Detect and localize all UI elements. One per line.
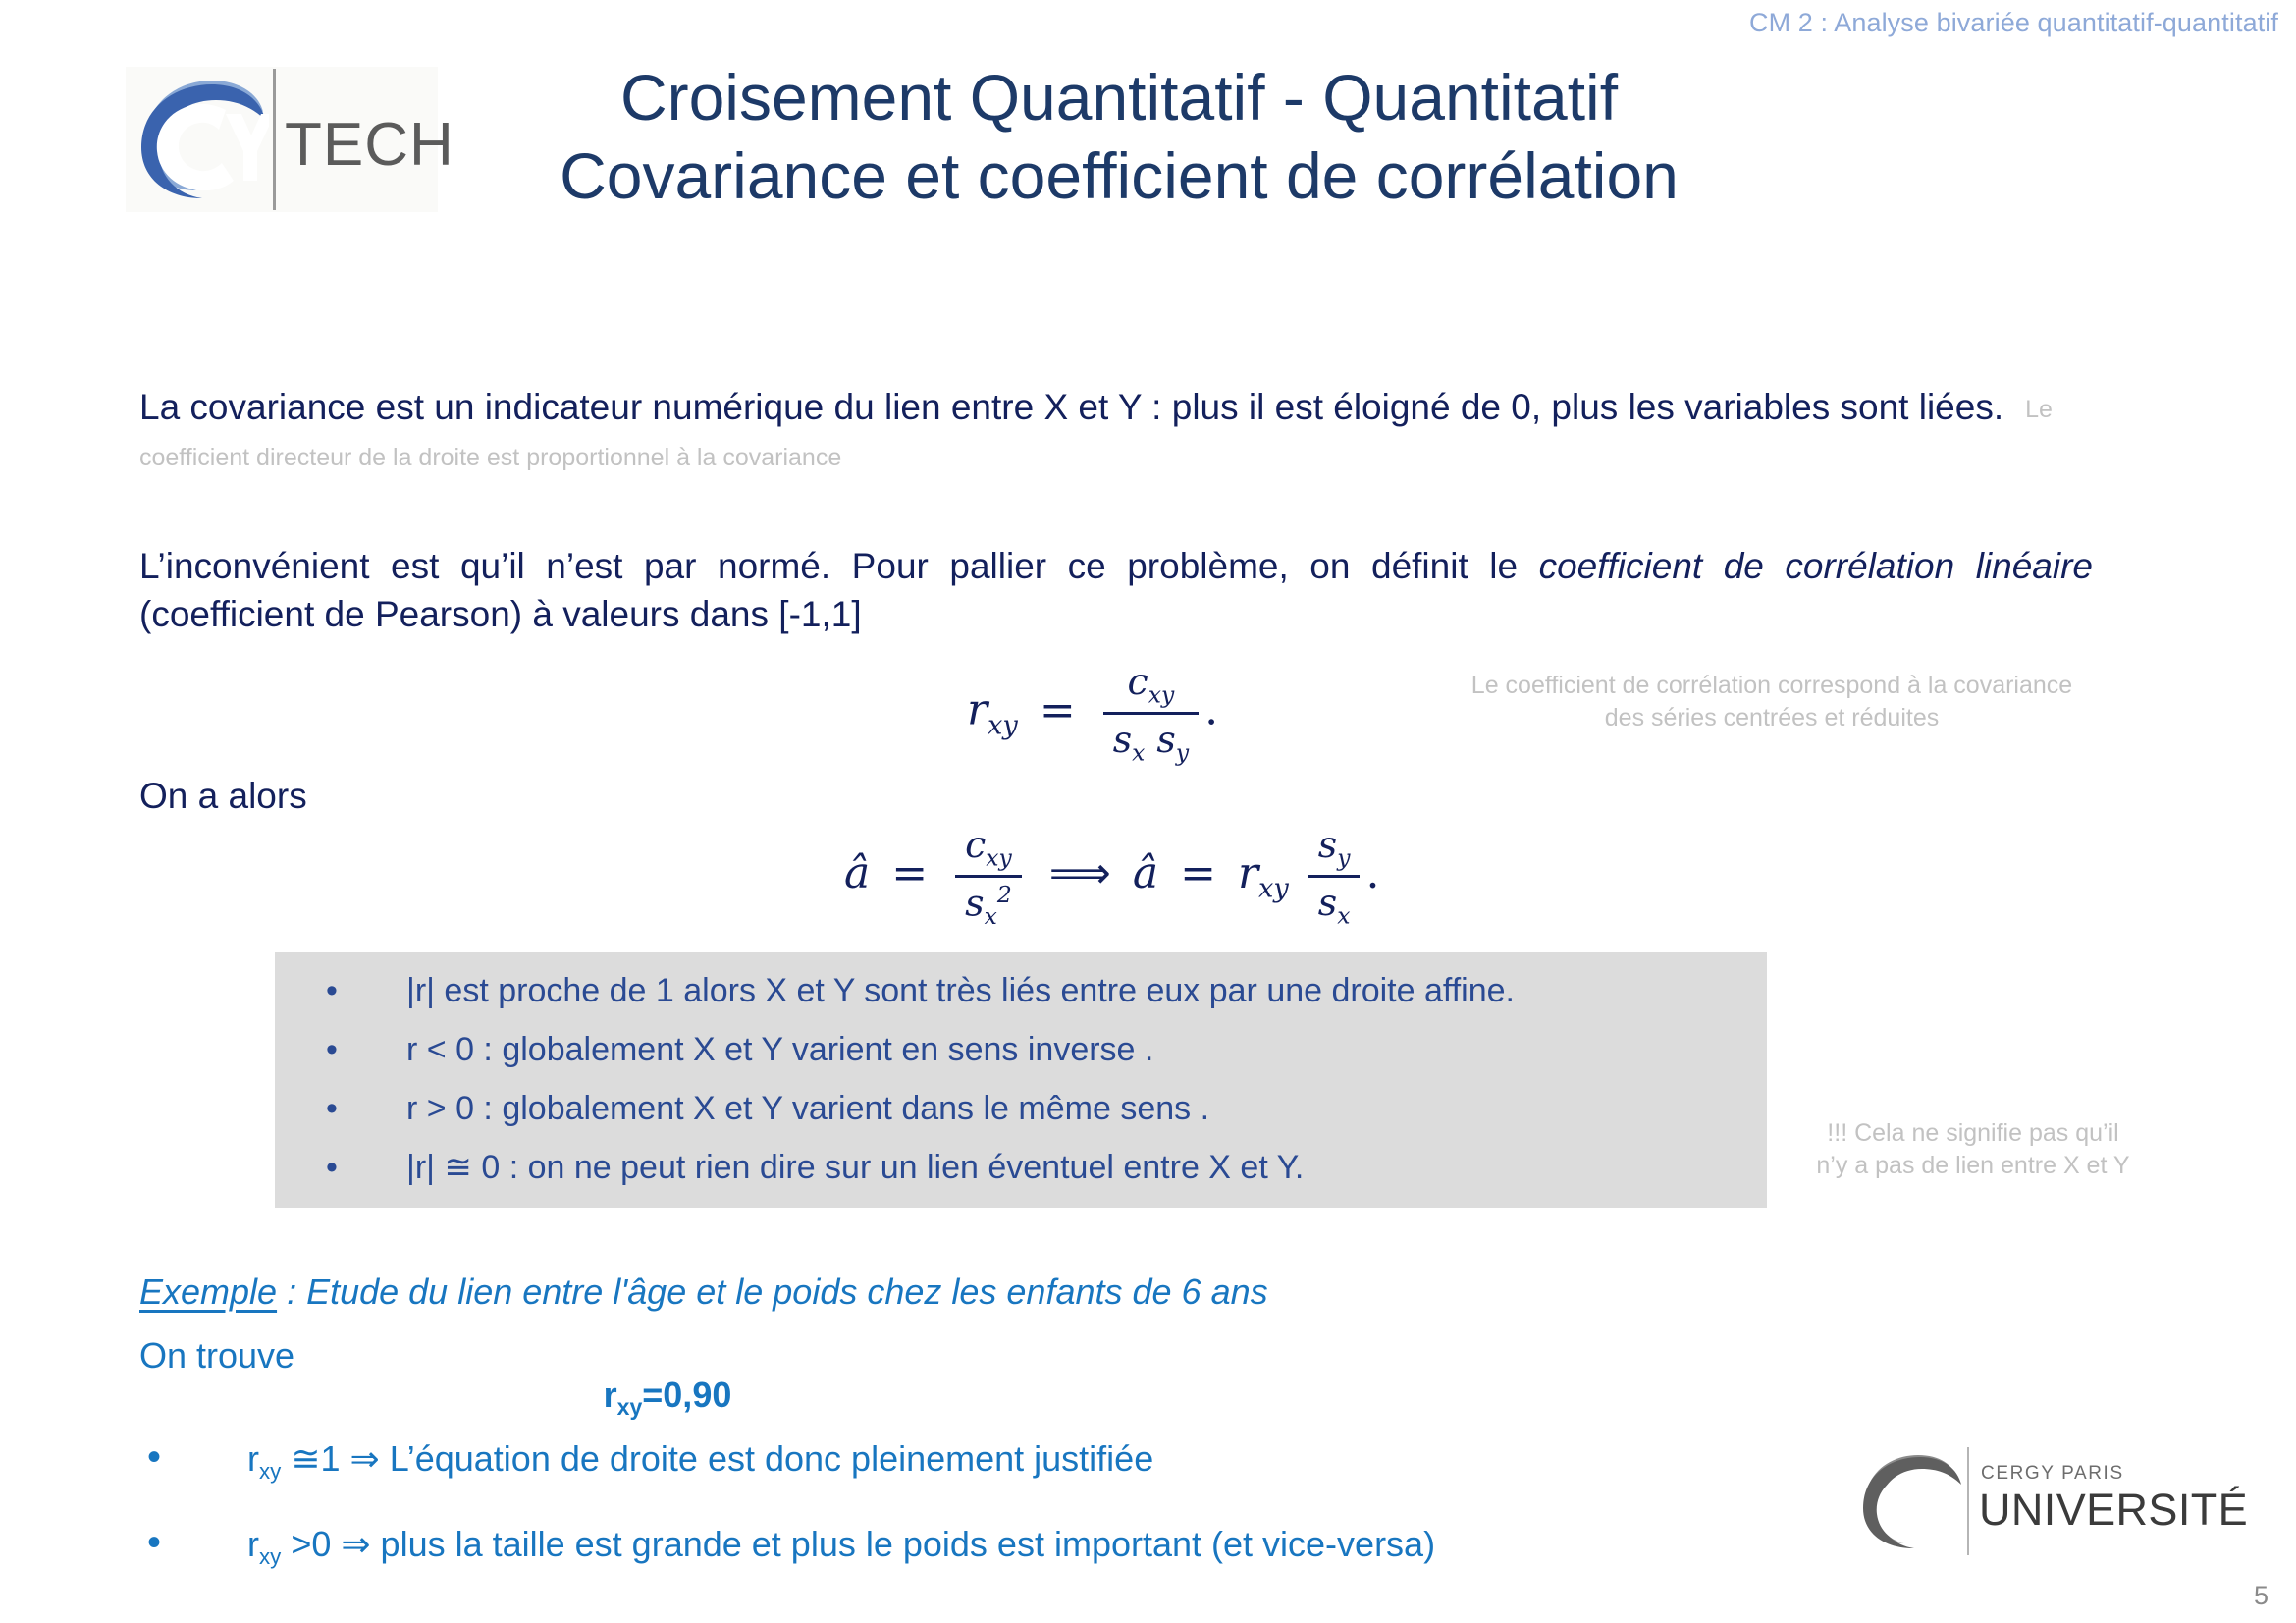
formula2-left-denominator: sx2 <box>955 878 1022 930</box>
list-item: • rxy >0 ⇒ plus la taille est grande et … <box>139 1527 1906 1569</box>
formula2-implies-icon: ⟹ <box>1041 848 1119 898</box>
formula1-den2-sub: y <box>1176 738 1189 766</box>
formula-correlation-coefficient: rxy = cxy sx sy . <box>967 660 1218 766</box>
implies-arrow-icon: ⇒ <box>350 1439 380 1480</box>
formula1-num-sub: xy <box>1148 681 1174 709</box>
formula1-den1-symbol: s <box>1113 718 1132 761</box>
list-item: • rxy ≅1 ⇒ L’équation de droite est donc… <box>139 1441 1906 1484</box>
warning-side-note: !!! Cela ne signifie pas qu’il n’y a pas… <box>1767 1117 2179 1181</box>
conclusion-symbol: r <box>247 1524 259 1564</box>
conclusion-relation: >0 <box>281 1524 341 1564</box>
formula2-left-num-symbol: c <box>965 823 986 866</box>
warning-side-note-line2: n’y a pas de lien entre X et Y <box>1767 1150 2179 1182</box>
formula2-right-num-symbol: s <box>1318 823 1337 866</box>
interpretation-box: •|r| est proche de 1 alors X et Y sont t… <box>275 952 1767 1208</box>
bullet-icon: • <box>147 1523 161 1562</box>
conclusion-subscript: xy <box>259 1459 281 1484</box>
interpretation-item-text: r < 0 : globalement X et Y varient en se… <box>406 1031 1153 1068</box>
interpretation-item-text: |r| est proche de 1 alors X et Y sont tr… <box>406 972 1515 1009</box>
formula2-fraction-left: cxy sx2 <box>955 823 1022 930</box>
cy-universite-logo: CERGY PARIS UNIVERSITÉ <box>1855 1445 2169 1559</box>
formula-slope-relation: â = cxy sx2 ⟹ â = rxy sy sx . <box>844 823 1379 930</box>
interpretation-item-text: r > 0 : globalement X et Y varient dans … <box>406 1090 1209 1127</box>
cy-universite-line1: CERGY PARIS <box>1981 1463 2124 1485</box>
formula2-right-den-symbol: s <box>1318 881 1337 924</box>
cy-universite-line2: UNIVERSITÉ <box>1979 1485 2248 1536</box>
formula2-left-den-symbol: s <box>965 881 984 924</box>
cy-universite-mark-icon <box>1855 1445 1965 1555</box>
page-title-line1: Croisement Quantitatif - Quantitatif <box>620 61 1618 134</box>
formula1-numerator: cxy <box>1103 660 1199 715</box>
formula1-den1-sub: x <box>1132 738 1145 766</box>
example-r-subscript: xy <box>617 1394 643 1420</box>
paragraph-correlation-part2: (coefficient de Pearson) à valeurs dans … <box>139 594 862 634</box>
list-item: •|r| est proche de 1 alors X et Y sont t… <box>275 974 1767 1007</box>
formula1-num-symbol: c <box>1128 660 1148 703</box>
conclusion-text: L’équation de droite est donc pleinement… <box>380 1438 1154 1479</box>
list-item: •r < 0 : globalement X et Y varient en s… <box>275 1033 1767 1066</box>
bullet-icon: • <box>326 1092 338 1125</box>
formula1-den2-symbol: s <box>1156 718 1175 761</box>
paragraph-correlation-part1: L’inconvénient est qu’il n’est par normé… <box>139 546 1539 586</box>
formula1-lhs: r <box>967 685 988 735</box>
formula1-equals: = <box>1032 685 1084 735</box>
formula2-right-numerator: sy <box>1308 823 1361 878</box>
formula2-rhs-r: r <box>1238 848 1258 898</box>
example-heading: Exemple : Etude du lien entre l'âge et l… <box>139 1271 1268 1313</box>
formula2-left-den-sup: 2 <box>997 881 1012 908</box>
formula2-left-num-sub: xy <box>986 844 1011 872</box>
cytech-mark-icon <box>132 71 269 208</box>
page-number: 5 <box>2254 1581 2269 1611</box>
formula2-fraction-right: sy sx <box>1308 823 1361 929</box>
formula1-period: . <box>1204 685 1218 735</box>
bullet-icon: • <box>326 1151 338 1184</box>
paragraph-correlation: L’inconvénient est qu’il n’est par normé… <box>139 542 2093 638</box>
formula1-lhs-sub: xy <box>988 710 1018 740</box>
page-title: Croisement Quantitatif - Quantitatif Cov… <box>353 59 1885 216</box>
formula2-lhs: â <box>844 848 870 898</box>
warning-side-note-line1: !!! Cela ne signifie pas qu’il <box>1767 1117 2179 1150</box>
course-header-note: CM 2 : Analyse bivariée quantitatif-quan… <box>1749 8 2278 38</box>
formula2-right-num-sub: y <box>1337 844 1350 872</box>
formula2-right-den-sub: x <box>1337 901 1350 929</box>
paragraph-covariance-text: La covariance est un indicateur numériqu… <box>139 387 2003 427</box>
conclusion-relation: ≅1 <box>281 1438 349 1479</box>
list-item: •r > 0 : globalement X et Y varient dans… <box>275 1092 1767 1125</box>
bullet-icon: • <box>326 974 338 1007</box>
formula2-rhs-r-sub: xy <box>1258 874 1289 904</box>
formula2-right-denominator: sx <box>1308 878 1361 930</box>
correlation-side-note-line1: Le coefficient de corrélation correspond… <box>1369 670 2174 702</box>
interpretation-item-text: |r| ≅ 0 : on ne peut rien dire sur un li… <box>406 1149 1304 1186</box>
formula2-rhs-lhs: â <box>1133 848 1158 898</box>
example-conclusions: • rxy ≅1 ⇒ L’équation de droite est donc… <box>139 1441 1906 1611</box>
formula2-left-numerator: cxy <box>955 823 1022 878</box>
formula1-denominator: sx sy <box>1103 715 1199 767</box>
logo-divider <box>273 69 276 210</box>
correlation-side-note-line2: des séries centrées et réduites <box>1369 702 2174 734</box>
example-r-symbol: r <box>604 1375 617 1415</box>
example-statement: : Etude du lien entre l'âge et le poids … <box>277 1271 1268 1312</box>
example-r-value: rxy=0,90 <box>0 1375 1335 1421</box>
bullet-icon: • <box>147 1437 161 1477</box>
formula2-equals: = <box>883 848 935 898</box>
cy-universite-divider <box>1967 1447 1969 1555</box>
implies-arrow-icon: ⇒ <box>341 1525 370 1565</box>
list-item: •|r| ≅ 0 : on ne peut rien dire sur un l… <box>275 1151 1767 1184</box>
conclusion-text: plus la taille est grande et plus le poi… <box>371 1524 1436 1564</box>
example-on-trouve-label: On trouve <box>139 1335 294 1377</box>
formula1-fraction: cxy sx sy <box>1103 660 1199 766</box>
interpretation-list: •|r| est proche de 1 alors X et Y sont t… <box>275 952 1767 1184</box>
formula2-rhs-equals: = <box>1172 848 1224 898</box>
example-r-number: =0,90 <box>642 1375 731 1415</box>
example-label: Exemple <box>139 1271 277 1312</box>
paragraph-covariance: La covariance est un indicateur numériqu… <box>139 383 2162 479</box>
paragraph-correlation-emphasis: coefficient de corrélation linéaire <box>1539 546 2093 586</box>
conclusion-symbol: r <box>247 1438 259 1479</box>
correlation-side-note: Le coefficient de corrélation correspond… <box>1369 670 2174 733</box>
bullet-icon: • <box>326 1033 338 1066</box>
conclusion-subscript: xy <box>259 1544 281 1569</box>
formula2-period: . <box>1365 848 1379 898</box>
page-title-line2: Covariance et coefficient de corrélation <box>353 137 1885 216</box>
formula2-left-den-sub: x <box>985 902 997 930</box>
on-a-alors-label: On a alors <box>139 776 307 817</box>
